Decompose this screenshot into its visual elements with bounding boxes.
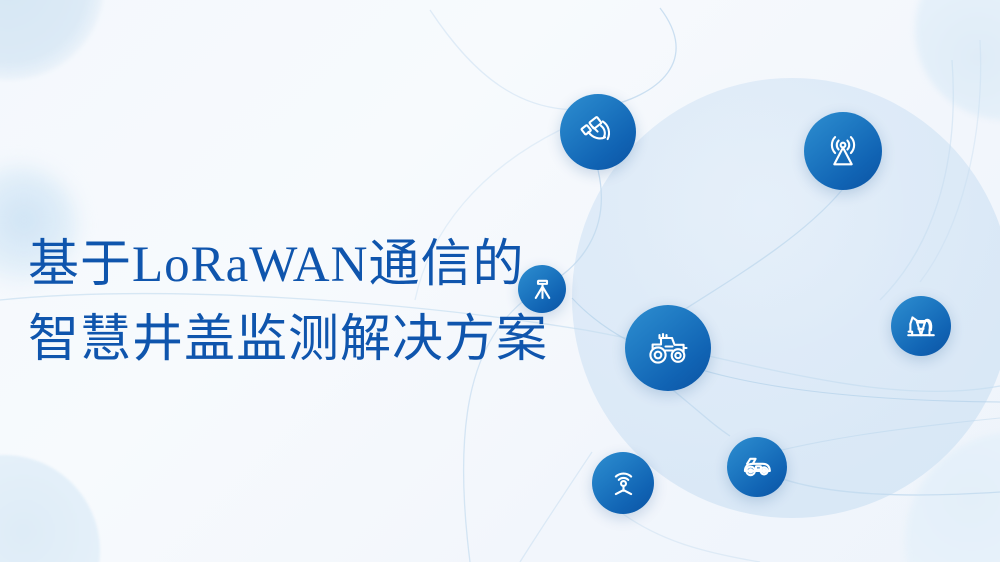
page-title: 基于LoRaWAN通信的 智慧井盖监测解决方案 bbox=[28, 228, 588, 378]
survey-tripod-icon bbox=[529, 276, 556, 303]
title-line-2: 智慧井盖监测解决方案 bbox=[28, 303, 588, 378]
title-line-1: 基于LoRaWAN通信的 bbox=[28, 228, 588, 303]
node-survey-tripod[interactable] bbox=[518, 265, 566, 313]
oil-pumpjack-icon bbox=[904, 309, 938, 343]
node-satellite-dish[interactable] bbox=[560, 94, 636, 170]
tractor-icon bbox=[644, 324, 692, 372]
lawn-mower-icon bbox=[740, 450, 774, 484]
node-wireless-sensor[interactable] bbox=[592, 452, 654, 514]
radio-tower-icon bbox=[821, 129, 865, 173]
node-oil-pumpjack[interactable] bbox=[891, 296, 951, 356]
satellite-dish-icon bbox=[577, 111, 619, 153]
slide-canvas: 基于LoRaWAN通信的 智慧井盖监测解决方案 bbox=[0, 0, 1000, 562]
node-lawn-mower[interactable] bbox=[727, 437, 787, 497]
wireless-sensor-icon bbox=[606, 466, 641, 501]
node-radio-tower[interactable] bbox=[804, 112, 882, 190]
node-tractor[interactable] bbox=[625, 305, 711, 391]
